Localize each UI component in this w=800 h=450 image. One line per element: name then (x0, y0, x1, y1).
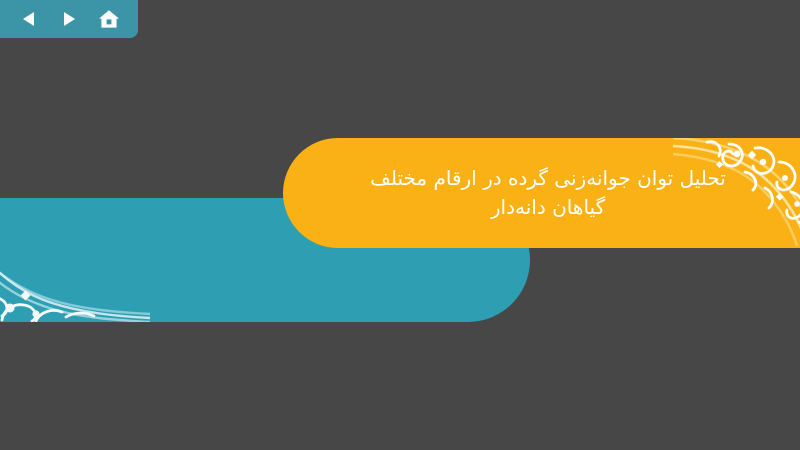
navigation-bar (0, 0, 138, 38)
title-line-2: گیاهان دانه‌دار (491, 193, 605, 222)
triangle-right-icon (59, 9, 79, 29)
previous-slide-button[interactable] (16, 6, 42, 32)
orange-title-banner: تحلیل توان جوانه‌زنی گرده در ارقام مختلف… (283, 138, 800, 248)
home-icon (97, 7, 121, 31)
home-button[interactable] (96, 6, 122, 32)
slide-title: تحلیل توان جوانه‌زنی گرده در ارقام مختلف… (283, 138, 800, 248)
title-line-1: تحلیل توان جوانه‌زنی گرده در ارقام مختلف (370, 164, 726, 193)
teal-arabesque-ornament-icon (0, 204, 150, 322)
slide-canvas: تحلیل توان جوانه‌زنی گرده در ارقام مختلف… (0, 0, 800, 450)
next-slide-button[interactable] (56, 6, 82, 32)
triangle-left-icon (19, 9, 39, 29)
